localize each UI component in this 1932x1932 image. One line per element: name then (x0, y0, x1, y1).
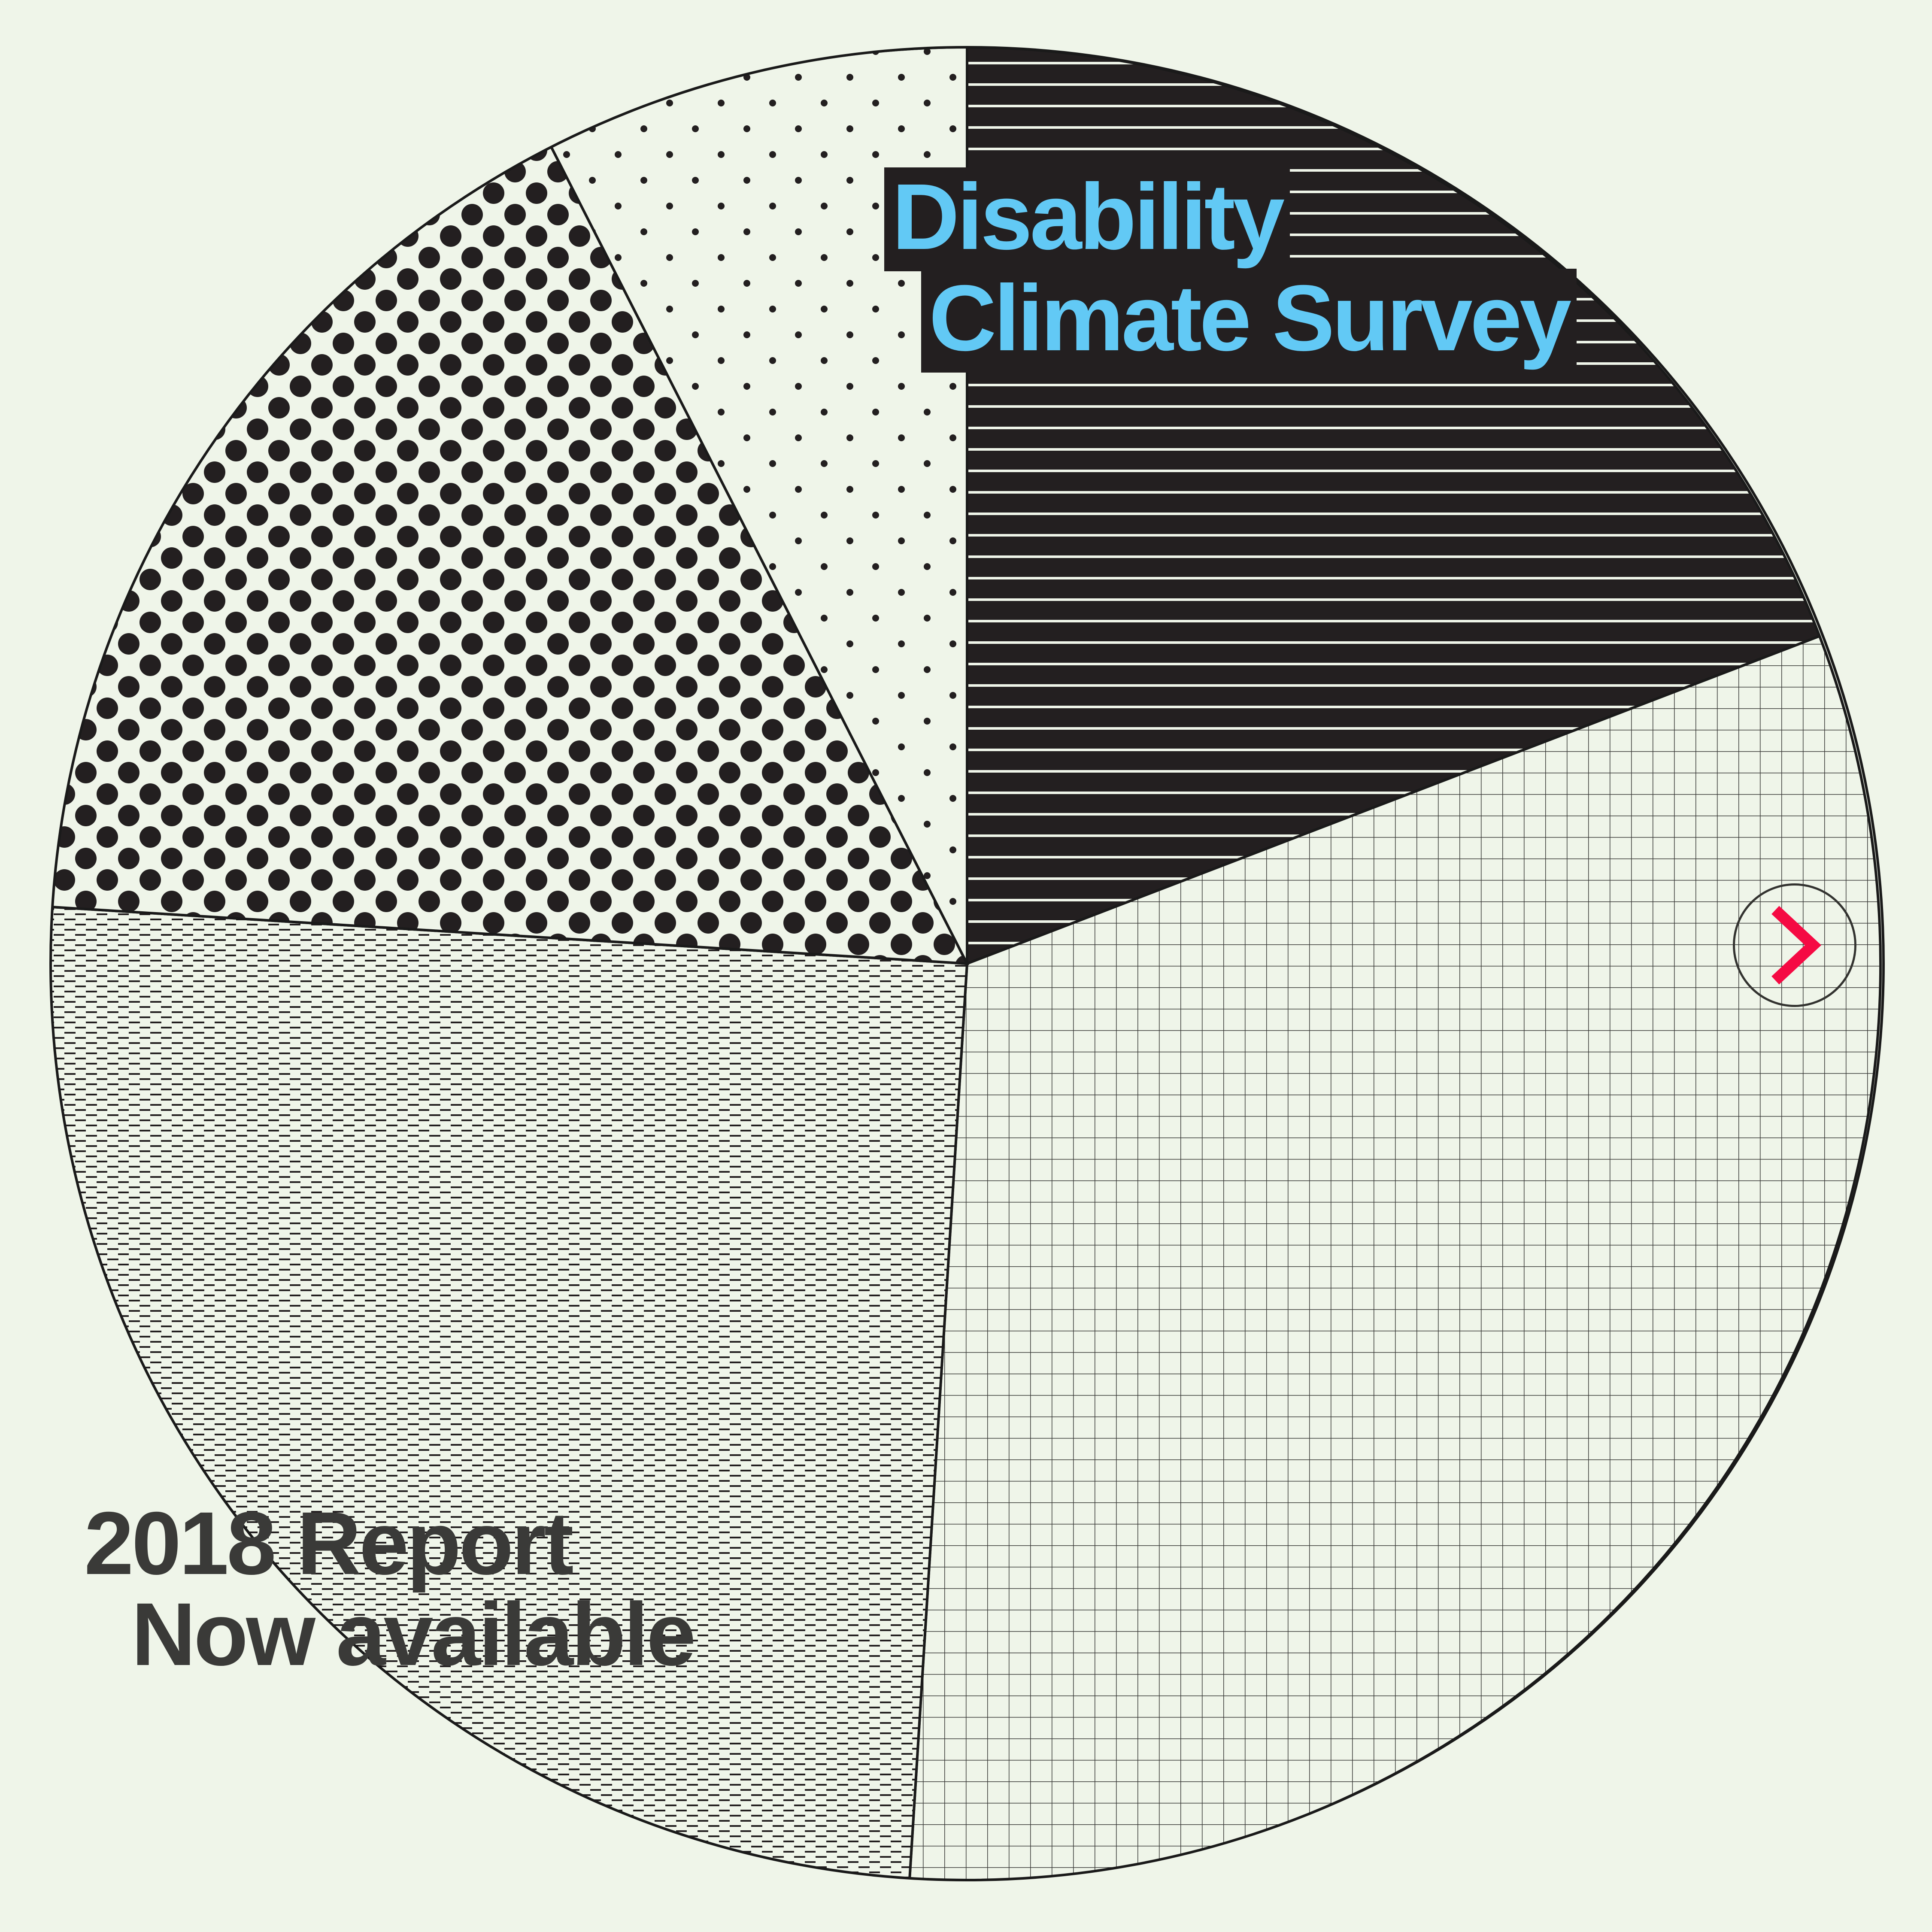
poster-canvas: Disability Climate Survey 2018 Report No… (0, 0, 1932, 1932)
pie-chart (0, 0, 1932, 1932)
next-button[interactable] (1733, 883, 1856, 1007)
pie-slice-dashed[interactable] (50, 907, 967, 1880)
chevron-right-icon (1762, 902, 1827, 988)
